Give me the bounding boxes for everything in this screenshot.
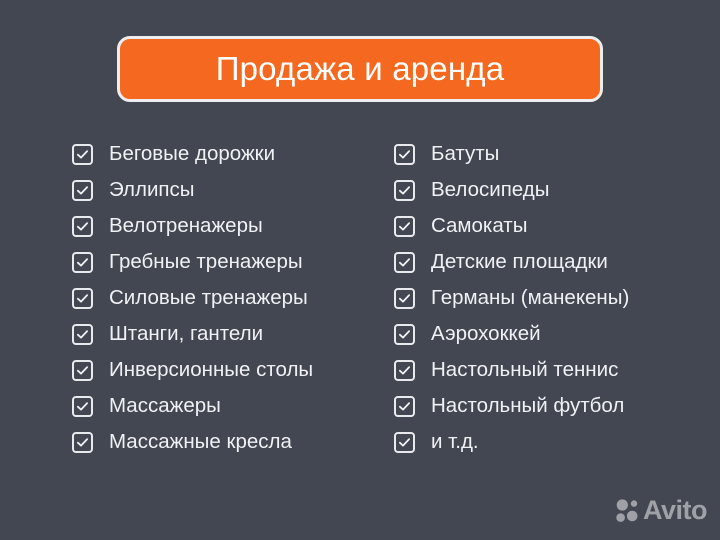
- checklist-item-label: Самокаты: [431, 216, 527, 237]
- checkbox-checked-icon[interactable]: [72, 180, 93, 201]
- checklist-item-label: Силовые тренажеры: [109, 288, 308, 309]
- checklist-column-right: БатутыВелосипедыСамокатыДетские площадки…: [394, 136, 629, 460]
- checklist-item-label: Аэрохоккей: [431, 324, 541, 345]
- checkbox-checked-icon[interactable]: [72, 360, 93, 381]
- checkbox-checked-icon[interactable]: [72, 144, 93, 165]
- avito-wordmark: Avito: [643, 497, 707, 524]
- checkbox-checked-icon[interactable]: [394, 144, 415, 165]
- checklist-item[interactable]: Детские площадки: [394, 244, 629, 280]
- checklist-item-label: Батуты: [431, 144, 499, 165]
- checkbox-checked-icon[interactable]: [394, 288, 415, 309]
- checklist-item-label: Велотренажеры: [109, 216, 263, 237]
- checkbox-checked-icon[interactable]: [72, 288, 93, 309]
- avito-dots-icon: [615, 498, 640, 523]
- checkbox-checked-icon[interactable]: [394, 396, 415, 417]
- checklist-item-label: Гребные тренажеры: [109, 252, 303, 273]
- checklist-item[interactable]: Штанги, гантели: [72, 316, 313, 352]
- checkbox-checked-icon[interactable]: [394, 432, 415, 453]
- checklist-column-left: Беговые дорожкиЭллипсыВелотренажерыГребн…: [72, 136, 313, 460]
- checklist-item-label: Массажеры: [109, 396, 221, 417]
- checklist-item-label: Детские площадки: [431, 252, 608, 273]
- checklist-item-label: Германы (манекены): [431, 288, 629, 309]
- checkbox-checked-icon[interactable]: [72, 216, 93, 237]
- checkbox-checked-icon[interactable]: [394, 324, 415, 345]
- checkbox-checked-icon[interactable]: [394, 252, 415, 273]
- page-title: Продажа и аренда: [216, 52, 505, 87]
- checklist-item[interactable]: Велотренажеры: [72, 208, 313, 244]
- title-banner-body: Продажа и аренда: [117, 36, 603, 102]
- checklist-item-label: Настольный футбол: [431, 396, 624, 417]
- checkbox-checked-icon[interactable]: [72, 396, 93, 417]
- checklist-item-label: Штанги, гантели: [109, 324, 263, 345]
- checkbox-checked-icon[interactable]: [72, 432, 93, 453]
- checklist-item[interactable]: и т.д.: [394, 424, 629, 460]
- checklist-item-label: Настольный теннис: [431, 360, 618, 381]
- avito-watermark: Avito: [615, 497, 707, 524]
- checklist-item[interactable]: Массажные кресла: [72, 424, 313, 460]
- checklist-item[interactable]: Массажеры: [72, 388, 313, 424]
- checklist-item[interactable]: Германы (манекены): [394, 280, 629, 316]
- checklist-item[interactable]: Силовые тренажеры: [72, 280, 313, 316]
- checklist-item[interactable]: Гребные тренажеры: [72, 244, 313, 280]
- checkbox-checked-icon[interactable]: [394, 180, 415, 201]
- checklist-item-label: Массажные кресла: [109, 432, 292, 453]
- checklist-item-label: Эллипсы: [109, 180, 195, 201]
- checklist-item[interactable]: Аэрохоккей: [394, 316, 629, 352]
- checkbox-checked-icon[interactable]: [394, 216, 415, 237]
- checklist-item-label: и т.д.: [431, 432, 479, 453]
- checklist-item-label: Инверсионные столы: [109, 360, 313, 381]
- title-banner: Продажа и аренда: [117, 36, 603, 102]
- checklist-item[interactable]: Велосипеды: [394, 172, 629, 208]
- checklist-item[interactable]: Батуты: [394, 136, 629, 172]
- checklist-item[interactable]: Самокаты: [394, 208, 629, 244]
- checklist-item[interactable]: Настольный теннис: [394, 352, 629, 388]
- checklist-item-label: Велосипеды: [431, 180, 549, 201]
- checklist-item[interactable]: Эллипсы: [72, 172, 313, 208]
- checklist-item[interactable]: Настольный футбол: [394, 388, 629, 424]
- checklist-item[interactable]: Инверсионные столы: [72, 352, 313, 388]
- checkbox-checked-icon[interactable]: [72, 252, 93, 273]
- checklist-item-label: Беговые дорожки: [109, 144, 275, 165]
- checkbox-checked-icon[interactable]: [394, 360, 415, 381]
- checkbox-checked-icon[interactable]: [72, 324, 93, 345]
- checklist-item[interactable]: Беговые дорожки: [72, 136, 313, 172]
